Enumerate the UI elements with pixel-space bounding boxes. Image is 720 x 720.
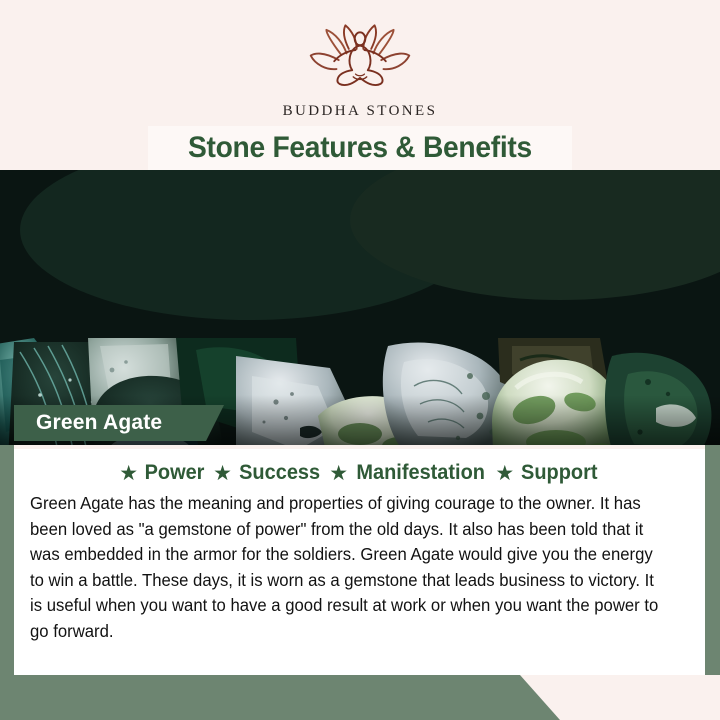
lotus-meditation-icon: [304, 22, 416, 94]
benefit-item: ★ Power: [119, 461, 206, 485]
benefit-label: Support: [521, 461, 597, 485]
star-icon: ★: [495, 463, 514, 484]
benefits-row: ★ Power ★ Success ★ Manifestation ★ Supp…: [14, 449, 705, 487]
brand-name: BUDDHA STONES: [0, 103, 720, 120]
star-icon: ★: [329, 463, 348, 484]
benefit-label: Success: [239, 461, 320, 485]
content-card: ★ Power ★ Success ★ Manifestation ★ Supp…: [14, 449, 705, 675]
brand-logo-block: BUDDHA STONES: [0, 22, 720, 120]
benefit-item: ★ Success: [213, 461, 322, 485]
stone-description: Green Agate has the meaning and properti…: [30, 491, 663, 644]
benefit-item: ★ Manifestation: [329, 461, 488, 485]
benefit-label: Power: [145, 461, 205, 485]
infographic-page: BUDDHA STONES Stone Features & Benefits: [0, 0, 720, 720]
star-icon: ★: [119, 463, 138, 484]
stone-name-banner: Green Agate: [14, 405, 224, 441]
star-icon: ★: [213, 463, 232, 484]
page-title-panel: Stone Features & Benefits: [148, 126, 572, 170]
benefit-item: ★ Support: [495, 461, 599, 485]
bottom-green-accent-bar: [0, 675, 560, 720]
stone-photo: [0, 170, 720, 445]
header: BUDDHA STONES Stone Features & Benefits: [0, 0, 720, 170]
stone-name: Green Agate: [14, 411, 162, 435]
page-title: Stone Features & Benefits: [188, 131, 532, 165]
benefit-label: Manifestation: [356, 461, 485, 485]
